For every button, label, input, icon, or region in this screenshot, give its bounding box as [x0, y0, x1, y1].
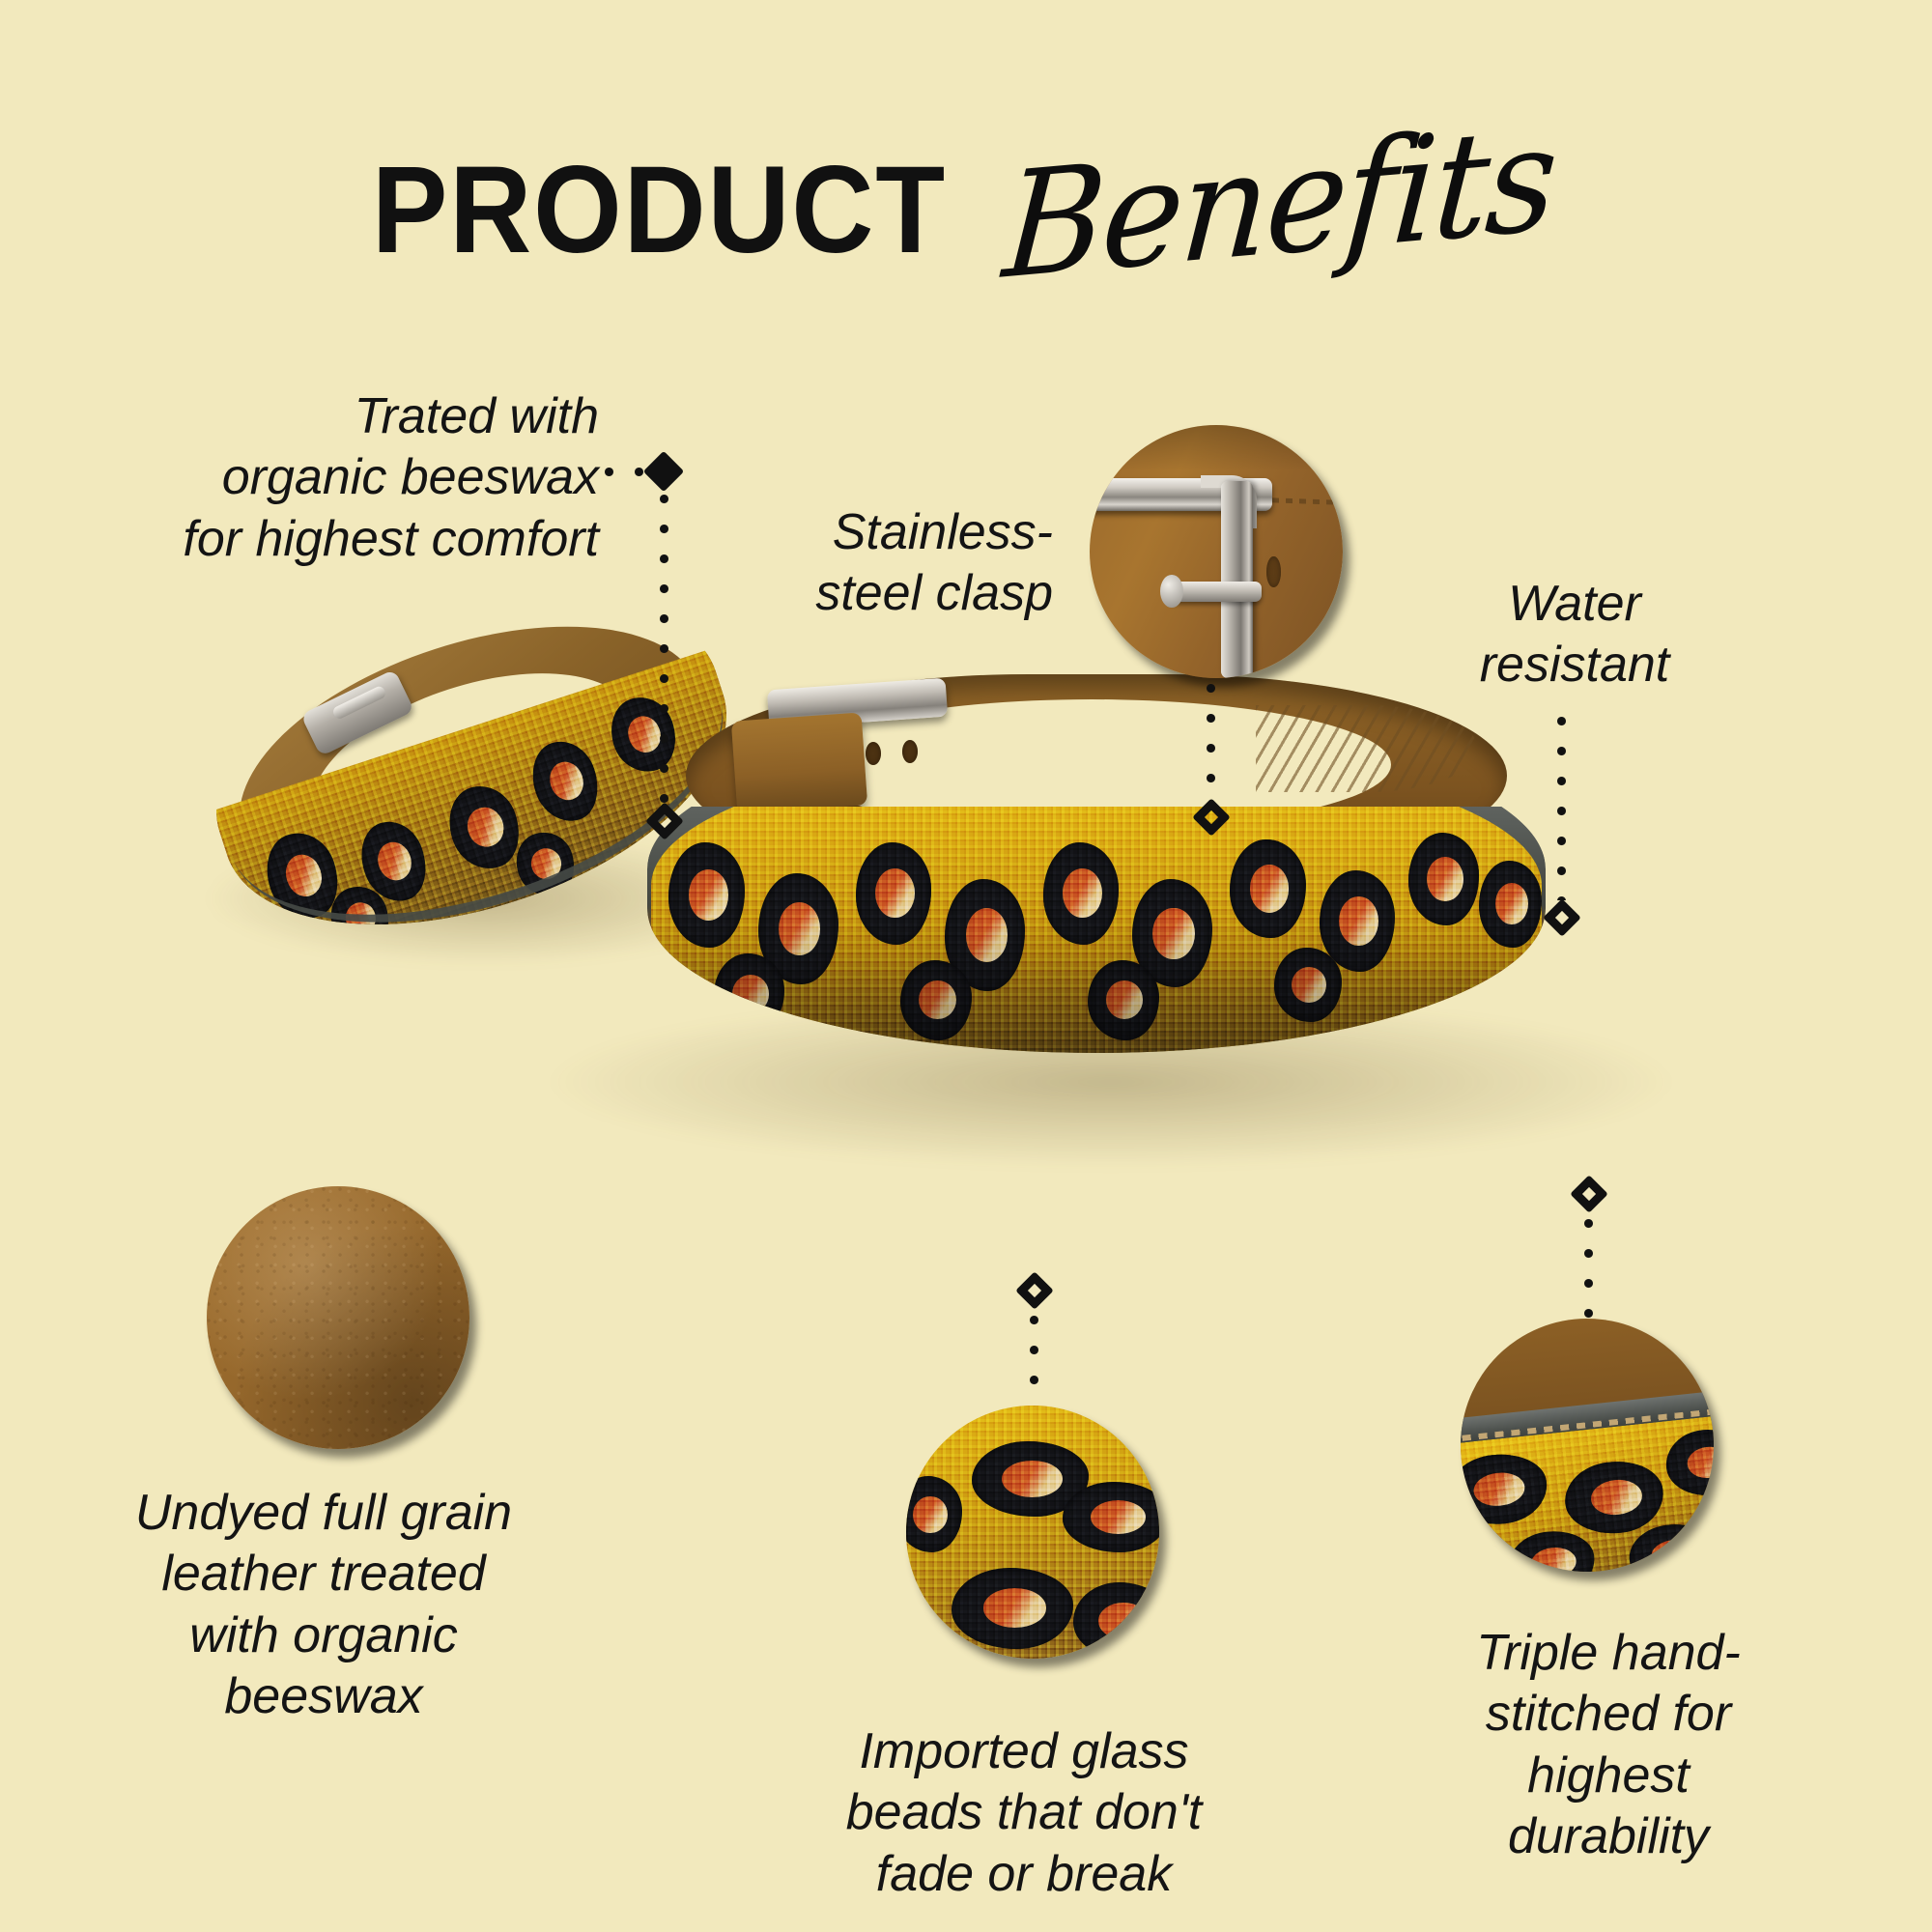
collar-primary-strap-hole [866, 742, 881, 765]
collar-primary-strap-tail [731, 712, 867, 813]
callout-glass-beads-label: Imported glass beads that don't fade or … [773, 1721, 1275, 1905]
callout-beeswax-comfort-label: Trated with organic beeswax for highest … [58, 386, 599, 570]
title-main-text: PRODUCT [372, 139, 947, 281]
callout-triple-stitched-label: Triple hand- stitched for highest durabi… [1391, 1623, 1826, 1868]
connector-beeswax-vertical [660, 495, 668, 804]
clasp-detail-circle [1090, 425, 1343, 678]
collar-primary [676, 667, 1517, 1053]
stitch-detail-beadwork [1461, 1415, 1714, 1572]
connector-stitch-marker-start [1570, 1175, 1608, 1213]
connector-stitch-vertical [1584, 1219, 1593, 1325]
callout-undyed-leather-label: Undyed full grain leather treated with o… [68, 1483, 580, 1728]
connector-beads-marker-start [1015, 1271, 1054, 1310]
callout-water-resistant-label: Water resistant [1381, 574, 1768, 696]
connector-water-marker-end [1543, 898, 1581, 937]
callout-stainless-clasp-label: Stainless- steel clasp [676, 502, 1053, 625]
connector-beeswax-marker-start [643, 451, 684, 492]
page-title: PRODUCTBenefits [0, 126, 1932, 294]
leather-swatch-circle [207, 1186, 469, 1449]
collar-interior-stitching [1256, 705, 1478, 792]
connector-water-vertical [1557, 717, 1566, 900]
collar-primary-strap-hole-2 [902, 740, 918, 763]
title-script-text: Benefits [999, 94, 1560, 312]
infographic-canvas: PRODUCTBenefits [0, 0, 1932, 1932]
stitch-detail-circle [1461, 1319, 1714, 1572]
connector-beads-vertical [1030, 1316, 1038, 1410]
connector-clasp-vertical [1207, 684, 1215, 800]
title-script-wrap: Benefits [1005, 143, 1585, 311]
bead-detail-circle [906, 1406, 1159, 1659]
